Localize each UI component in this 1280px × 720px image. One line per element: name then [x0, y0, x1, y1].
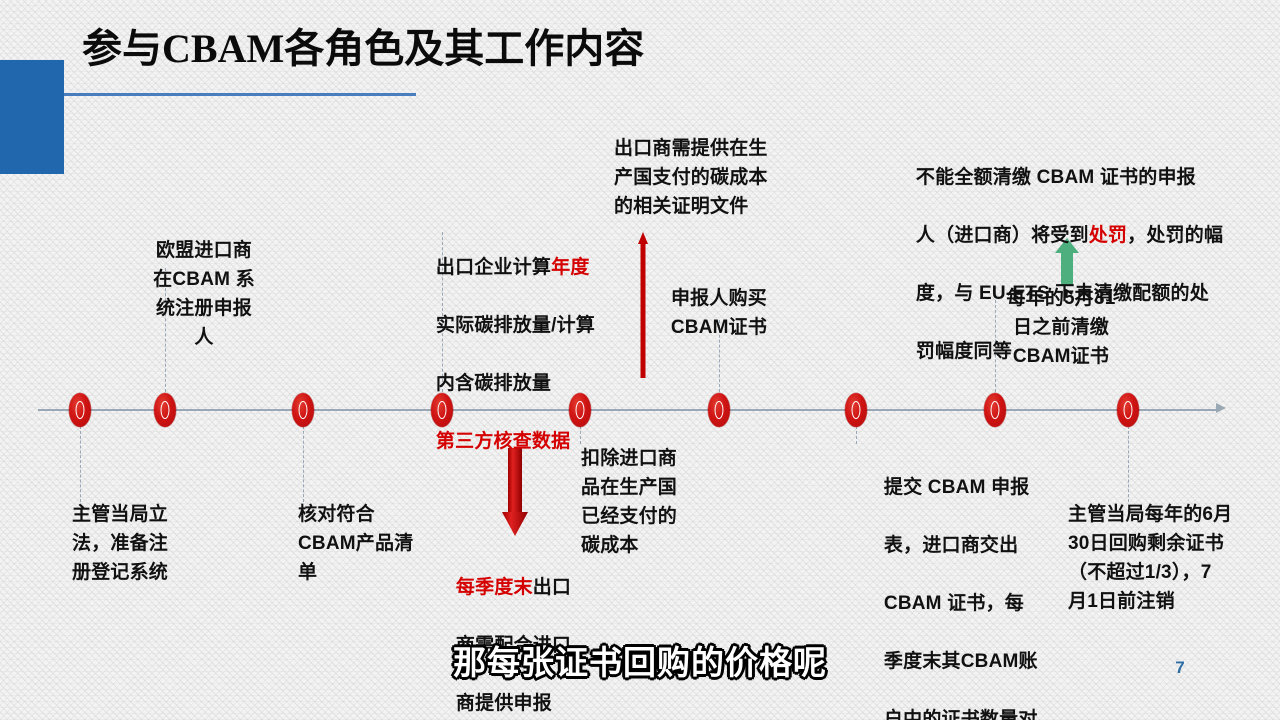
timeline-marker-6[interactable] — [708, 393, 730, 427]
note-line-1-highlight: 年度 — [551, 257, 589, 278]
penalty-line-2b: ，处罚的幅 — [1127, 225, 1223, 246]
timeline-marker-7[interactable] — [845, 393, 867, 427]
quarterly-line-1-highlight: 每季度末 — [456, 577, 533, 598]
quarterly-line-3: 商提供申报 — [456, 693, 552, 714]
timeline-marker-1[interactable] — [69, 393, 91, 427]
connector-tick-7 — [856, 426, 857, 444]
note-authority-repurchase: 主管当局每年的6月 30日回购剩余证书 （不超过1/3），7 月1日前注销 — [1068, 500, 1268, 616]
note-eu-importer-registration: 欧盟进口商 在CBAM 系 统注册申报 人 — [150, 236, 258, 352]
timeline-marker-2[interactable] — [154, 393, 176, 427]
timeline-marker-3[interactable] — [292, 393, 314, 427]
connector-tick-1 — [80, 426, 81, 502]
submit-line-5: 户中的证书数量对 — [884, 709, 1038, 720]
note-authority-legislation: 主管当局立 法，准备注 册登记系统 — [72, 500, 202, 587]
note-deduct-paid-carbon-cost: 扣除进口商 品在生产国 已经支付的 碳成本 — [581, 444, 705, 560]
timeline-axis-arrowhead — [1216, 403, 1226, 413]
note-line-1-plain: 出口企业计算 — [436, 257, 551, 278]
note-quarterly-reporting: 每季度末出口 商需配合进口 商提供申报 CBAM信 息 — [434, 544, 580, 720]
submit-line-3: CBAM 证书，每 — [884, 593, 1024, 614]
note-line-2: 实际碳排放量/计算 — [436, 315, 595, 336]
note-carbon-cost-proof: 出口商需提供在生 产国支付的碳成本 的相关证明文件 — [614, 134, 800, 221]
subtitle-caption: 那每张证书回购的价格呢 — [0, 636, 1280, 684]
note-line-4-highlight: 第三方核查数据 — [436, 431, 570, 452]
slide-canvas: 参与CBAM各角色及其工作内容 欧盟进 — [0, 0, 1280, 720]
timeline-axis — [38, 409, 1218, 411]
title-accent-block — [0, 60, 64, 174]
title-underline-rule — [64, 93, 416, 96]
penalty-line-2-highlight: 处罚 — [1089, 225, 1127, 246]
penalty-line-1: 不能全额清缴 CBAM 证书的申报 — [916, 167, 1196, 188]
timeline-marker-8[interactable] — [984, 393, 1006, 427]
quarterly-line-1-plain: 出口 — [533, 577, 571, 598]
penalty-line-2a: 人（进口商）将受到 — [916, 225, 1089, 246]
note-declarant-buys-certificates: 申报人购买 CBAM证书 — [645, 284, 793, 342]
connector-tick-3 — [303, 426, 304, 502]
page-title: 参与CBAM各角色及其工作内容 — [82, 16, 644, 74]
note-line-3: 内含碳排放量 — [436, 373, 551, 394]
connector-tick-9 — [1128, 426, 1129, 502]
submit-line-2: 表，进口商交出 — [884, 535, 1018, 556]
page-number: 7 — [1160, 658, 1200, 678]
submit-line-1: 提交 CBAM 申报 — [884, 477, 1030, 498]
note-check-cbam-product-list: 核对符合 CBAM产品清 单 — [298, 500, 450, 587]
timeline-marker-9[interactable] — [1117, 393, 1139, 427]
note-surrender-by-may31: 每年的5月31 日之前清缴 CBAM证书 — [990, 284, 1132, 371]
